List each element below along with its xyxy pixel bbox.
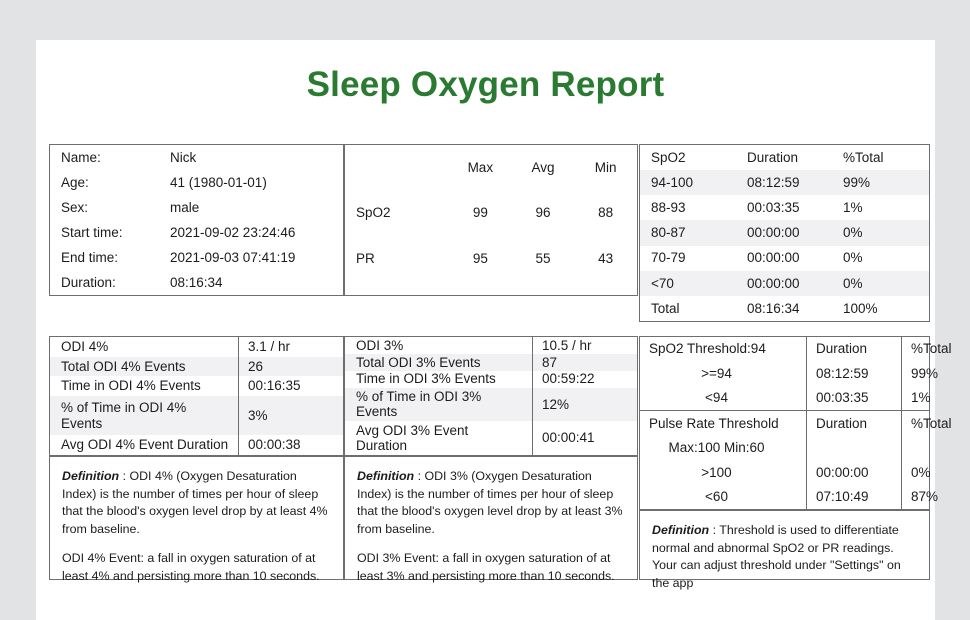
threshold-spo2-lt94-duration: 00:03:35 bbox=[807, 386, 902, 411]
threshold-spo2-lt94-label: <94 bbox=[640, 386, 807, 411]
table-row: Start time: 2021-09-02 23:24:46 bbox=[50, 220, 343, 245]
spo2-range-70-79: 70-79 bbox=[640, 246, 747, 271]
definition-keyword: Definition bbox=[357, 469, 414, 483]
odi4-label-index: ODI 4% bbox=[50, 337, 239, 357]
table-row: Avg ODI 4% Event Duration 00:00:38 bbox=[50, 435, 343, 455]
info-value-duration: 08:16:34 bbox=[170, 270, 343, 295]
stats-header-min: Min bbox=[574, 145, 637, 190]
page-title: Sleep Oxygen Report bbox=[36, 65, 935, 105]
table-row: <60 07:10:49 87% bbox=[640, 485, 929, 509]
definition-keyword: Definition bbox=[652, 523, 709, 537]
info-label-duration: Duration: bbox=[50, 270, 170, 295]
stats-corner-cell bbox=[345, 145, 449, 190]
stats-header-avg: Avg bbox=[512, 145, 575, 190]
table-row: 80-87 00:00:00 0% bbox=[640, 220, 929, 245]
odi4-label-time-in-events: Time in ODI 4% Events bbox=[50, 376, 239, 396]
threshold-spo2-lt94-pct: 1% bbox=[902, 386, 930, 411]
threshold-header-pr-pct: %Total bbox=[902, 411, 930, 436]
stats-row-label-spo2: SpO2 bbox=[345, 190, 449, 235]
table-row: Max:100 Min:60 bbox=[640, 436, 929, 460]
info-label-start-time: Start time: bbox=[50, 220, 170, 245]
odi3-value-pct-time: 12% bbox=[533, 388, 638, 422]
info-label-sex: Sex: bbox=[50, 195, 170, 220]
odi4-metrics-table: ODI 4% 3.1 / hr Total ODI 4% Events 26 T… bbox=[49, 336, 344, 456]
table-row: 94-100 08:12:59 99% bbox=[640, 170, 929, 195]
odi4-value-index: 3.1 / hr bbox=[239, 337, 344, 357]
table-row: >100 00:00:00 0% bbox=[640, 460, 929, 484]
table-row: Total ODI 3% Events 87 bbox=[345, 354, 637, 371]
table-header-row: Max Avg Min bbox=[345, 145, 637, 190]
table-row: Sex: male bbox=[50, 195, 343, 220]
spo2-range-94-100: 94-100 bbox=[640, 170, 747, 195]
stats-pr-min: 43 bbox=[574, 236, 637, 281]
table-row: 70-79 00:00:00 0% bbox=[640, 246, 929, 271]
stats-spo2-min: 88 bbox=[574, 190, 637, 235]
table-header-row: SpO2 Threshold:94 Duration %Total bbox=[640, 337, 929, 361]
table-row: 88-93 00:03:35 1% bbox=[640, 195, 929, 220]
threshold-pr-lt60-duration: 07:10:49 bbox=[807, 485, 902, 509]
spo2-duration-80-87: 00:00:00 bbox=[747, 220, 843, 245]
table-row: Total 08:16:34 100% bbox=[640, 296, 929, 321]
table-row: <70 00:00:00 0% bbox=[640, 271, 929, 296]
odi4-definition-paragraph-1: Definition : ODI 4% (Oxygen Desaturation… bbox=[62, 468, 331, 539]
table-row: ODI 3% 10.5 / hr bbox=[345, 337, 637, 354]
odi4-value-pct-time: 3% bbox=[239, 396, 344, 435]
spo2-range-80-87: 80-87 bbox=[640, 220, 747, 245]
table-row: PR 95 55 43 bbox=[345, 236, 637, 281]
info-label-age: Age: bbox=[50, 170, 170, 195]
table-row: Avg ODI 3% Event Duration 00:00:41 bbox=[345, 421, 637, 455]
threshold-summary-table: SpO2 Threshold:94 Duration %Total >=94 0… bbox=[639, 336, 930, 510]
threshold-definition-box: Definition : Threshold is used to differ… bbox=[639, 510, 930, 580]
odi3-definition-box: Definition : ODI 3% (Oxygen Desaturation… bbox=[344, 456, 638, 580]
stats-pr-max: 95 bbox=[449, 236, 512, 281]
info-value-age: 41 (1980-01-01) bbox=[170, 170, 343, 195]
info-value-start-time: 2021-09-02 23:24:46 bbox=[170, 220, 343, 245]
threshold-pr-range-label: Max:100 Min:60 bbox=[640, 436, 807, 460]
threshold-pr-gt100-label: >100 bbox=[640, 460, 807, 484]
spo2-header-pct: %Total bbox=[843, 145, 929, 170]
spo2-header-duration: Duration bbox=[747, 145, 843, 170]
spo2-range-88-93: 88-93 bbox=[640, 195, 747, 220]
threshold-header-spo2-duration: Duration bbox=[807, 337, 902, 361]
info-label-name: Name: bbox=[50, 145, 170, 170]
table-row: % of Time in ODI 3% Events 12% bbox=[345, 388, 637, 422]
odi3-label-total-events: Total ODI 3% Events bbox=[345, 354, 533, 371]
threshold-pr-gt100-duration: 00:00:00 bbox=[807, 460, 902, 484]
table-row: Total ODI 4% Events 26 bbox=[50, 357, 343, 377]
stats-row-label-pr: PR bbox=[345, 236, 449, 281]
threshold-spo2-ge94-label: >=94 bbox=[640, 361, 807, 385]
threshold-pr-range-duration bbox=[807, 436, 902, 460]
spo2-pct-under-70: 0% bbox=[843, 271, 929, 296]
odi3-label-avg-duration: Avg ODI 3% Event Duration bbox=[345, 421, 533, 455]
odi3-value-time-in-events: 00:59:22 bbox=[533, 371, 638, 388]
stats-pr-avg: 55 bbox=[512, 236, 575, 281]
spacer-cell bbox=[345, 281, 449, 295]
stats-spo2-avg: 96 bbox=[512, 190, 575, 235]
threshold-pr-lt60-label: <60 bbox=[640, 485, 807, 509]
table-row: Duration: 08:16:34 bbox=[50, 270, 343, 295]
odi3-label-index: ODI 3% bbox=[345, 337, 533, 354]
threshold-header-pr-duration: Duration bbox=[807, 411, 902, 436]
odi3-value-avg-duration: 00:00:41 bbox=[533, 421, 638, 455]
odi4-value-time-in-events: 00:16:35 bbox=[239, 376, 344, 396]
spo2-pct-total: 100% bbox=[843, 296, 929, 321]
table-row: End time: 2021-09-03 07:41:19 bbox=[50, 245, 343, 270]
threshold-pr-lt60-pct: 87% bbox=[902, 485, 930, 509]
table-header-row: Pulse Rate Threshold Duration %Total bbox=[640, 411, 929, 436]
odi4-label-pct-time: % of Time in ODI 4% Events bbox=[50, 396, 239, 435]
stats-spo2-max: 99 bbox=[449, 190, 512, 235]
spacer-cell bbox=[574, 281, 637, 295]
threshold-spo2-ge94-duration: 08:12:59 bbox=[807, 361, 902, 385]
info-label-end-time: End time: bbox=[50, 245, 170, 270]
info-value-end-time: 2021-09-03 07:41:19 bbox=[170, 245, 343, 270]
odi4-definition-box: Definition : ODI 4% (Oxygen Desaturation… bbox=[49, 456, 344, 580]
report-sheet: Sleep Oxygen Report Name: Nick Age: 41 (… bbox=[36, 40, 935, 620]
odi3-definition-paragraph-1: Definition : ODI 3% (Oxygen Desaturation… bbox=[357, 468, 625, 539]
odi4-definition-paragraph-2: ODI 4% Event: a fall in oxygen saturatio… bbox=[62, 550, 331, 585]
threshold-definition-paragraph-1: Definition : Threshold is used to differ… bbox=[652, 522, 917, 593]
odi3-value-index: 10.5 / hr bbox=[533, 337, 638, 354]
odi4-value-avg-duration: 00:00:38 bbox=[239, 435, 344, 455]
table-header-row: SpO2 Duration %Total bbox=[640, 145, 929, 170]
table-row: % of Time in ODI 4% Events 3% bbox=[50, 396, 343, 435]
definition-keyword: Definition bbox=[62, 469, 119, 483]
table-row: Name: Nick bbox=[50, 145, 343, 170]
spo2-pct-94-100: 99% bbox=[843, 170, 929, 195]
threshold-pr-gt100-pct: 0% bbox=[902, 460, 930, 484]
table-row: >=94 08:12:59 99% bbox=[640, 361, 929, 385]
table-row: ODI 4% 3.1 / hr bbox=[50, 337, 343, 357]
vitals-summary-panel: Max Avg Min SpO2 99 96 88 PR 95 55 43 bbox=[344, 144, 638, 296]
spo2-duration-total: 08:16:34 bbox=[747, 296, 843, 321]
table-row: <94 00:03:35 1% bbox=[640, 386, 929, 411]
stats-header-max: Max bbox=[449, 145, 512, 190]
threshold-pr-range-pct bbox=[902, 436, 930, 460]
spo2-range-under-70: <70 bbox=[640, 271, 747, 296]
spo2-header-range: SpO2 bbox=[640, 145, 747, 170]
table-row: SpO2 99 96 88 bbox=[345, 190, 637, 235]
table-row: Time in ODI 4% Events 00:16:35 bbox=[50, 376, 343, 396]
table-spacer-row bbox=[345, 281, 637, 295]
spo2-duration-94-100: 08:12:59 bbox=[747, 170, 843, 195]
threshold-header-spo2-pct: %Total bbox=[902, 337, 930, 361]
threshold-header-spo2: SpO2 Threshold:94 bbox=[640, 337, 807, 361]
spo2-range-total: Total bbox=[640, 296, 747, 321]
spacer-cell bbox=[449, 281, 512, 295]
spo2-pct-80-87: 0% bbox=[843, 220, 929, 245]
spo2-duration-88-93: 00:03:35 bbox=[747, 195, 843, 220]
spo2-pct-70-79: 0% bbox=[843, 246, 929, 271]
table-row: Age: 41 (1980-01-01) bbox=[50, 170, 343, 195]
odi4-label-total-events: Total ODI 4% Events bbox=[50, 357, 239, 377]
spo2-distribution-table: SpO2 Duration %Total 94-100 08:12:59 99%… bbox=[639, 144, 930, 322]
odi3-label-time-in-events: Time in ODI 3% Events bbox=[345, 371, 533, 388]
subject-info-panel: Name: Nick Age: 41 (1980-01-01) Sex: mal… bbox=[49, 144, 344, 296]
threshold-header-pulse-rate: Pulse Rate Threshold bbox=[640, 411, 807, 436]
spo2-pct-88-93: 1% bbox=[843, 195, 929, 220]
odi3-label-pct-time: % of Time in ODI 3% Events bbox=[345, 388, 533, 422]
odi3-value-total-events: 87 bbox=[533, 354, 638, 371]
spo2-duration-under-70: 00:00:00 bbox=[747, 271, 843, 296]
table-row: Time in ODI 3% Events 00:59:22 bbox=[345, 371, 637, 388]
odi4-value-total-events: 26 bbox=[239, 357, 344, 377]
spacer-cell bbox=[512, 281, 575, 295]
odi3-definition-paragraph-2: ODI 3% Event: a fall in oxygen saturatio… bbox=[357, 550, 625, 585]
info-value-name: Nick bbox=[170, 145, 343, 170]
spo2-duration-70-79: 00:00:00 bbox=[747, 246, 843, 271]
odi4-label-avg-duration: Avg ODI 4% Event Duration bbox=[50, 435, 239, 455]
info-value-sex: male bbox=[170, 195, 343, 220]
odi3-metrics-table: ODI 3% 10.5 / hr Total ODI 3% Events 87 … bbox=[344, 336, 638, 456]
threshold-spo2-ge94-pct: 99% bbox=[902, 361, 930, 385]
